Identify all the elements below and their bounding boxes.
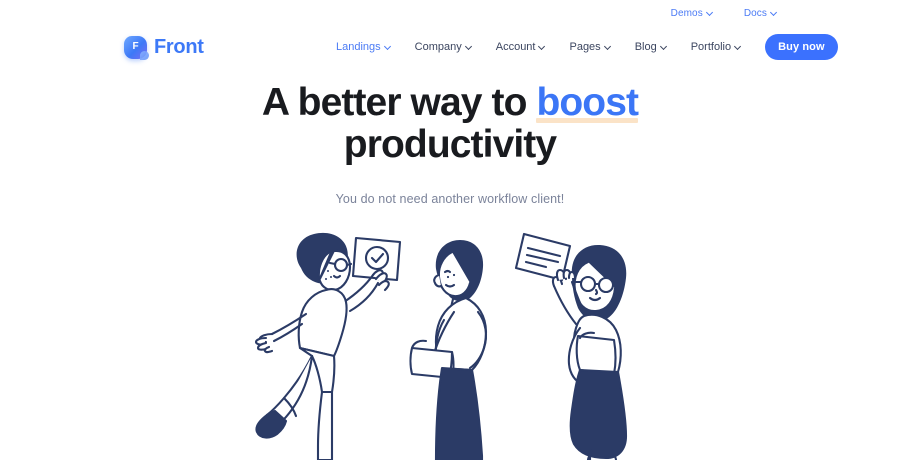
nav-item-pages-label: Pages <box>569 41 600 53</box>
chevron-down-icon <box>735 43 742 50</box>
toplink-demos-label: Demos <box>671 8 703 19</box>
nav-item-pages[interactable]: Pages <box>569 41 611 53</box>
brand-logo[interactable]: F Front <box>124 36 204 59</box>
nav-item-blog[interactable]: Blog <box>635 41 668 53</box>
buy-now-button[interactable]: Buy now <box>765 34 838 60</box>
hero-illustration-container <box>0 228 900 460</box>
toplink-demos[interactable]: Demos <box>671 8 714 19</box>
chevron-down-icon <box>771 9 778 16</box>
nav-item-landings[interactable]: Landings <box>336 41 392 53</box>
chevron-down-icon <box>605 43 612 50</box>
chevron-down-icon <box>539 43 546 50</box>
hero-subtitle: You do not need another workflow client! <box>0 166 900 206</box>
toplink-docs-label: Docs <box>744 8 767 19</box>
chevron-down-icon <box>661 43 668 50</box>
nav-item-blog-label: Blog <box>635 41 657 53</box>
nav-item-account[interactable]: Account <box>496 41 547 53</box>
chevron-down-icon <box>707 9 714 16</box>
nav-item-account-label: Account <box>496 41 536 53</box>
primary-nav: Landings Company Account Pages Blog Port… <box>336 34 838 60</box>
chevron-down-icon <box>466 43 473 50</box>
hero-title-line2: productivity <box>344 123 556 166</box>
brand-mark-letter: F <box>132 42 138 52</box>
front-logo-icon: F <box>124 36 147 59</box>
hero-title-highlight: boost <box>536 82 638 124</box>
nav-item-company[interactable]: Company <box>415 41 473 53</box>
hero-section: A better way to boost productivity You d… <box>0 82 900 206</box>
page-title: A better way to boost productivity <box>0 82 900 166</box>
nav-item-portfolio[interactable]: Portfolio <box>691 41 742 53</box>
chevron-down-icon <box>385 43 392 50</box>
hero-title-line1-prefix: A better way to <box>262 81 537 124</box>
toplink-docs[interactable]: Docs <box>744 8 778 19</box>
site-header: F Front Landings Company Account Pages <box>0 26 900 68</box>
landing-page: Demos Docs F Front Landings Company <box>0 0 900 460</box>
nav-item-company-label: Company <box>415 41 462 53</box>
brand-name: Front <box>154 36 204 59</box>
top-utility-bar: Demos Docs <box>0 0 900 26</box>
nav-item-portfolio-label: Portfolio <box>691 41 731 53</box>
nav-item-landings-label: Landings <box>336 41 381 53</box>
three-people-with-documents-illustration <box>240 228 660 460</box>
